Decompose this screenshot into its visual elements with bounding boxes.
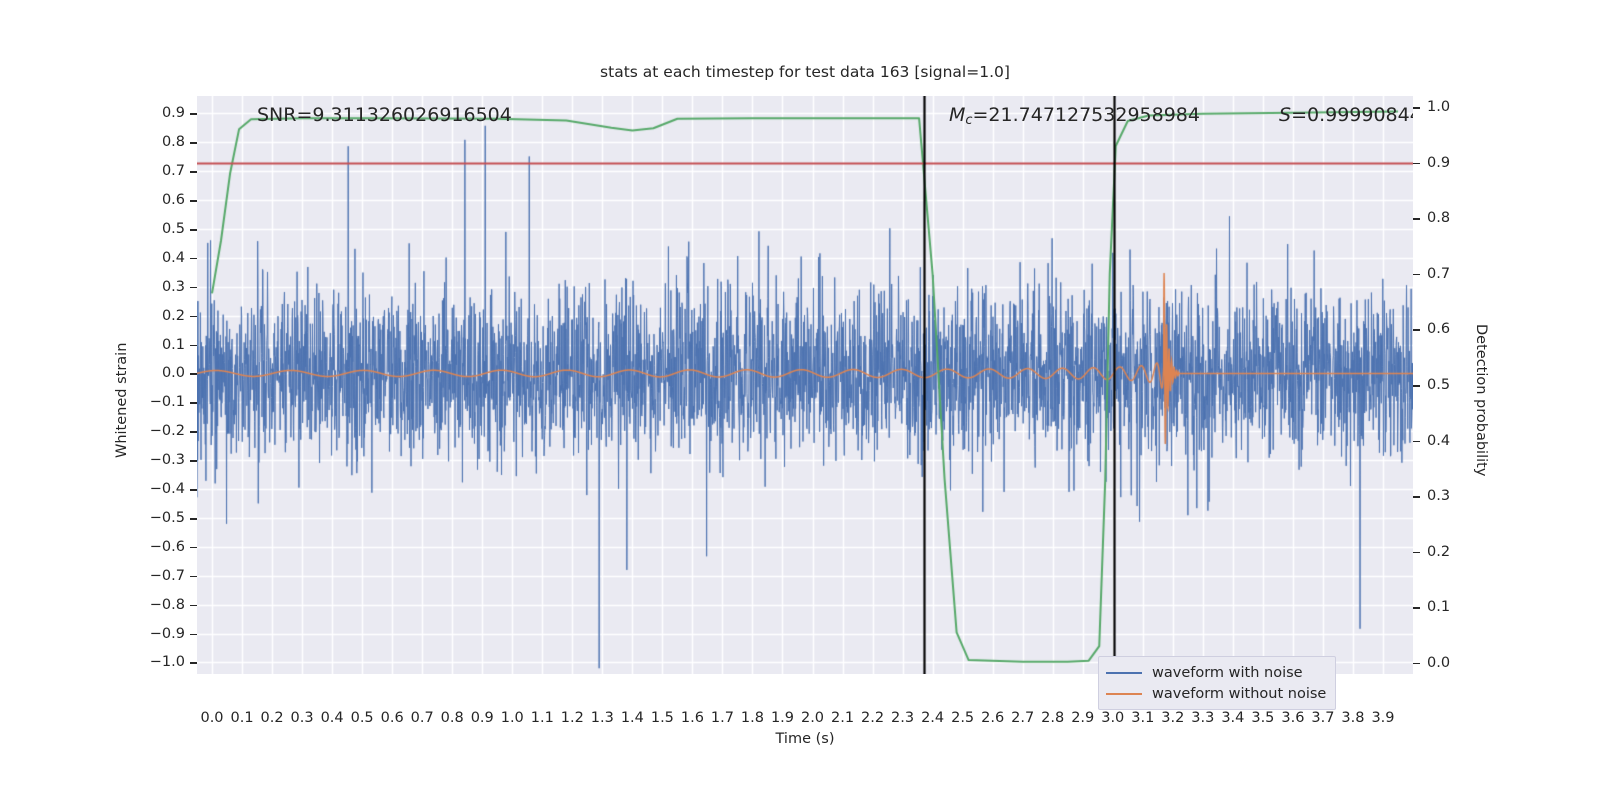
- y-tick-label-right: 0.5: [1427, 377, 1450, 393]
- y-tick-mark-left: [190, 518, 197, 520]
- y-tick-label-left: 0.0: [162, 365, 185, 381]
- x-tick-label: 2.1: [831, 710, 854, 726]
- x-tick-label: 1.5: [651, 710, 674, 726]
- y-tick-label-left: 0.2: [162, 308, 185, 324]
- y-tick-mark-left: [190, 229, 197, 231]
- y-tick-mark-left: [190, 171, 197, 173]
- x-tick-label: 1.4: [621, 710, 644, 726]
- x-tick-label: 1.3: [591, 710, 614, 726]
- x-tick-label: 3.3: [1191, 710, 1214, 726]
- annotation-chirp-mass-text: Mc=21.747127532958984: [949, 104, 1200, 126]
- y-tick-mark-left: [190, 547, 197, 549]
- y-tick-label-right: 0.9: [1427, 155, 1450, 171]
- y-tick-mark-right: [1413, 274, 1420, 276]
- y-tick-mark-right: [1413, 552, 1420, 554]
- x-tick-label: 2.9: [1071, 710, 1094, 726]
- x-tick-label: 0.1: [231, 710, 254, 726]
- y-tick-mark-right: [1413, 329, 1420, 331]
- x-tick-label: 1.1: [531, 710, 554, 726]
- legend-label: waveform without noise: [1152, 686, 1326, 702]
- legend-line-icon: [1106, 693, 1142, 695]
- y-tick-mark-left: [190, 142, 197, 144]
- y-tick-label-left: 0.9: [162, 105, 185, 121]
- x-tick-label: 1.2: [561, 710, 584, 726]
- y-tick-label-left: −0.5: [150, 510, 185, 526]
- x-tick-label: 0.3: [291, 710, 314, 726]
- x-tick-label: 1.6: [681, 710, 704, 726]
- legend-item-waveform-without-noise[interactable]: waveform without noise: [1106, 683, 1326, 704]
- x-tick-label: 2.7: [1011, 710, 1034, 726]
- x-tick-label: 0.7: [411, 710, 434, 726]
- x-tick-label: 3.1: [1131, 710, 1154, 726]
- y-tick-mark-left: [190, 460, 197, 462]
- x-tick-label: 3.0: [1101, 710, 1124, 726]
- y-tick-label-left: −0.9: [150, 626, 185, 642]
- data-layer: [197, 96, 1413, 674]
- y-tick-mark-right: [1413, 607, 1420, 609]
- y-tick-label-left: 0.3: [162, 279, 185, 295]
- y-tick-mark-left: [190, 258, 197, 260]
- annotation-snr-text: SNR=9.311326026916504: [257, 104, 512, 126]
- x-tick-label: 3.7: [1311, 710, 1334, 726]
- y-tick-label-left: −0.7: [150, 568, 185, 584]
- y-tick-label-left: −0.3: [150, 452, 185, 468]
- y-tick-label-left: 0.5: [162, 221, 185, 237]
- x-tick-label: 3.6: [1281, 710, 1304, 726]
- x-tick-label: 0.9: [471, 710, 494, 726]
- y-tick-label-right: 0.2: [1427, 544, 1450, 560]
- y-tick-label-left: −0.8: [150, 597, 185, 613]
- y-tick-mark-right: [1413, 663, 1420, 665]
- y-tick-label-left: 0.4: [162, 250, 185, 266]
- x-tick-label: 2.0: [801, 710, 824, 726]
- x-tick-label: 0.4: [321, 710, 344, 726]
- y-tick-mark-left: [190, 200, 197, 202]
- y-tick-mark-right: [1413, 496, 1420, 498]
- annotation-score-text: S=0.999908447265625: [1279, 104, 1413, 126]
- y-tick-label-left: −0.1: [150, 394, 185, 410]
- legend-item-waveform-with-noise[interactable]: waveform with noise: [1106, 662, 1326, 683]
- y-tick-mark-left: [190, 402, 197, 404]
- y-tick-label-right: 0.6: [1427, 321, 1450, 337]
- y-tick-mark-left: [190, 605, 197, 607]
- x-tick-label: 0.5: [351, 710, 374, 726]
- y-axis-left-label: Whitened strain: [111, 290, 133, 510]
- x-tick-label: 1.7: [711, 710, 734, 726]
- y-tick-label-right: 0.3: [1427, 488, 1450, 504]
- y-tick-mark-right: [1413, 218, 1420, 220]
- x-axis-label: Time (s): [197, 731, 1413, 747]
- annotation-chirp-mass: Mc=21.747127532958984: [949, 104, 1200, 128]
- y-tick-label-right: 0.1: [1427, 599, 1450, 615]
- y-tick-mark-left: [190, 113, 197, 115]
- x-tick-label: 3.9: [1371, 710, 1394, 726]
- annotation-score: S=0.999908447265625: [1279, 104, 1413, 126]
- y-tick-label-right: 0.7: [1427, 266, 1450, 282]
- y-tick-label-right: 0.8: [1427, 210, 1450, 226]
- y-tick-mark-left: [190, 373, 197, 375]
- figure-canvas: stats at each timestep for test data 163…: [0, 0, 1600, 800]
- y-tick-label-right: 1.0: [1427, 99, 1450, 115]
- x-tick-label: 2.8: [1041, 710, 1064, 726]
- y-tick-mark-left: [190, 431, 197, 433]
- x-tick-label: 1.9: [771, 710, 794, 726]
- y-tick-mark-left: [190, 634, 197, 636]
- x-tick-label: 3.5: [1251, 710, 1274, 726]
- x-tick-label: 2.4: [921, 710, 944, 726]
- x-tick-label: 2.6: [981, 710, 1004, 726]
- y-tick-label-left: −0.6: [150, 539, 185, 555]
- y-tick-label-right: 0.4: [1427, 433, 1450, 449]
- x-tick-label: 3.2: [1161, 710, 1184, 726]
- x-tick-label: 2.5: [951, 710, 974, 726]
- y-tick-label-left: −0.4: [150, 481, 185, 497]
- annotation-snr: SNR=9.311326026916504: [257, 104, 512, 126]
- x-tick-label: 0.6: [381, 710, 404, 726]
- y-axis-right-label: Detection probability: [1470, 300, 1492, 500]
- x-tick-label: 3.8: [1341, 710, 1364, 726]
- y-tick-mark-left: [190, 316, 197, 318]
- y-tick-label-left: 0.6: [162, 192, 185, 208]
- plot-area: SNR=9.311326026916504 Mc=21.747127532958…: [197, 96, 1413, 674]
- x-tick-label: 1.0: [501, 710, 524, 726]
- y-tick-label-right: 0.0: [1427, 655, 1450, 671]
- y-tick-label-left: −1.0: [150, 654, 185, 670]
- y-tick-mark-right: [1413, 441, 1420, 443]
- y-tick-mark-right: [1413, 163, 1420, 165]
- y-tick-mark-left: [190, 287, 197, 289]
- y-tick-mark-left: [190, 489, 197, 491]
- y-tick-label-left: 0.8: [162, 134, 185, 150]
- y-tick-mark-right: [1413, 385, 1420, 387]
- legend-line-icon: [1106, 672, 1142, 674]
- x-tick-label: 0.2: [261, 710, 284, 726]
- y-tick-mark-right: [1413, 107, 1420, 109]
- x-tick-label: 2.2: [861, 710, 884, 726]
- chart-title: stats at each timestep for test data 163…: [197, 63, 1413, 81]
- y-tick-mark-left: [190, 576, 197, 578]
- x-tick-label: 0.0: [200, 710, 223, 726]
- y-tick-label-left: 0.1: [162, 337, 185, 353]
- x-tick-label: 2.3: [891, 710, 914, 726]
- legend-label: waveform with noise: [1152, 665, 1303, 681]
- x-tick-label: 3.4: [1221, 710, 1244, 726]
- y-tick-mark-left: [190, 662, 197, 664]
- x-tick-label: 0.8: [441, 710, 464, 726]
- y-tick-label-left: 0.7: [162, 163, 185, 179]
- x-tick-label: 1.8: [741, 710, 764, 726]
- legend[interactable]: waveform with noise waveform without noi…: [1098, 656, 1336, 710]
- y-tick-label-left: −0.2: [150, 423, 185, 439]
- y-tick-mark-left: [190, 345, 197, 347]
